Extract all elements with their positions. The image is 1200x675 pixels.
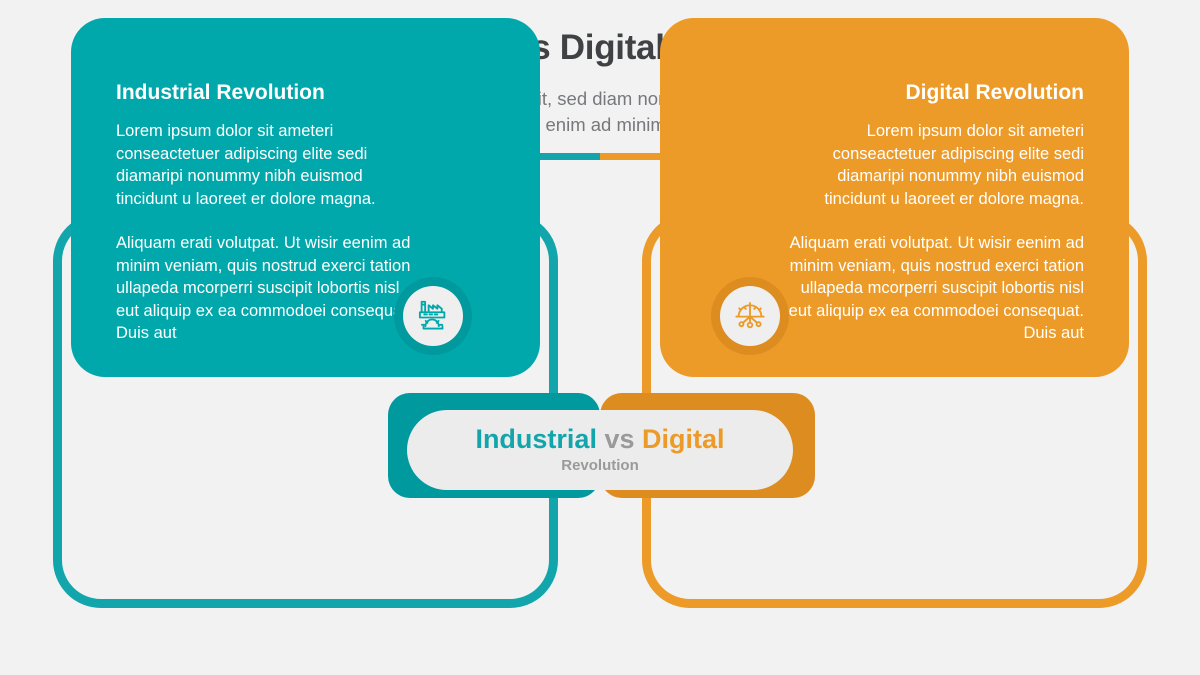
center-comparison-badge[interactable]: Industrial vs Digital Revolution: [407, 410, 793, 490]
card-industrial-content: Industrial Revolution Lorem ipsum dolor …: [116, 80, 413, 345]
icon-disc-industrial: [403, 286, 463, 346]
card-digital-content: Digital Revolution Lorem ipsum dolor sit…: [787, 80, 1084, 345]
card-digital-heading: Digital Revolution: [787, 80, 1084, 106]
card-digital-paragraph-2: Aliquam erati volutpat. Ut wisir eenim a…: [787, 232, 1084, 345]
card-digital-paragraph-1: Lorem ipsum dolor sit ameteri conseactet…: [787, 120, 1084, 210]
center-badge-word-vs: vs: [604, 424, 634, 454]
card-industrial-paragraph-1: Lorem ipsum dolor sit ameteri conseactet…: [116, 120, 413, 210]
icon-badge-industrial: [394, 277, 472, 355]
icon-badge-digital: [711, 277, 789, 355]
slide-canvas: Industrial vs Digital Revolution Lorem i…: [0, 0, 1200, 675]
center-badge-title: Industrial vs Digital: [475, 424, 724, 454]
center-badge-word-left: Industrial: [475, 424, 597, 454]
icon-disc-digital: [720, 286, 780, 346]
card-industrial-heading: Industrial Revolution: [116, 80, 413, 106]
factory-gear-icon: [412, 293, 454, 340]
card-industrial-paragraph-2: Aliquam erati volutpat. Ut wisir eenim a…: [116, 232, 413, 345]
center-badge-subtitle: Revolution: [561, 456, 639, 476]
center-badge-word-right: Digital: [642, 424, 725, 454]
digital-network-gear-icon: [729, 293, 771, 340]
